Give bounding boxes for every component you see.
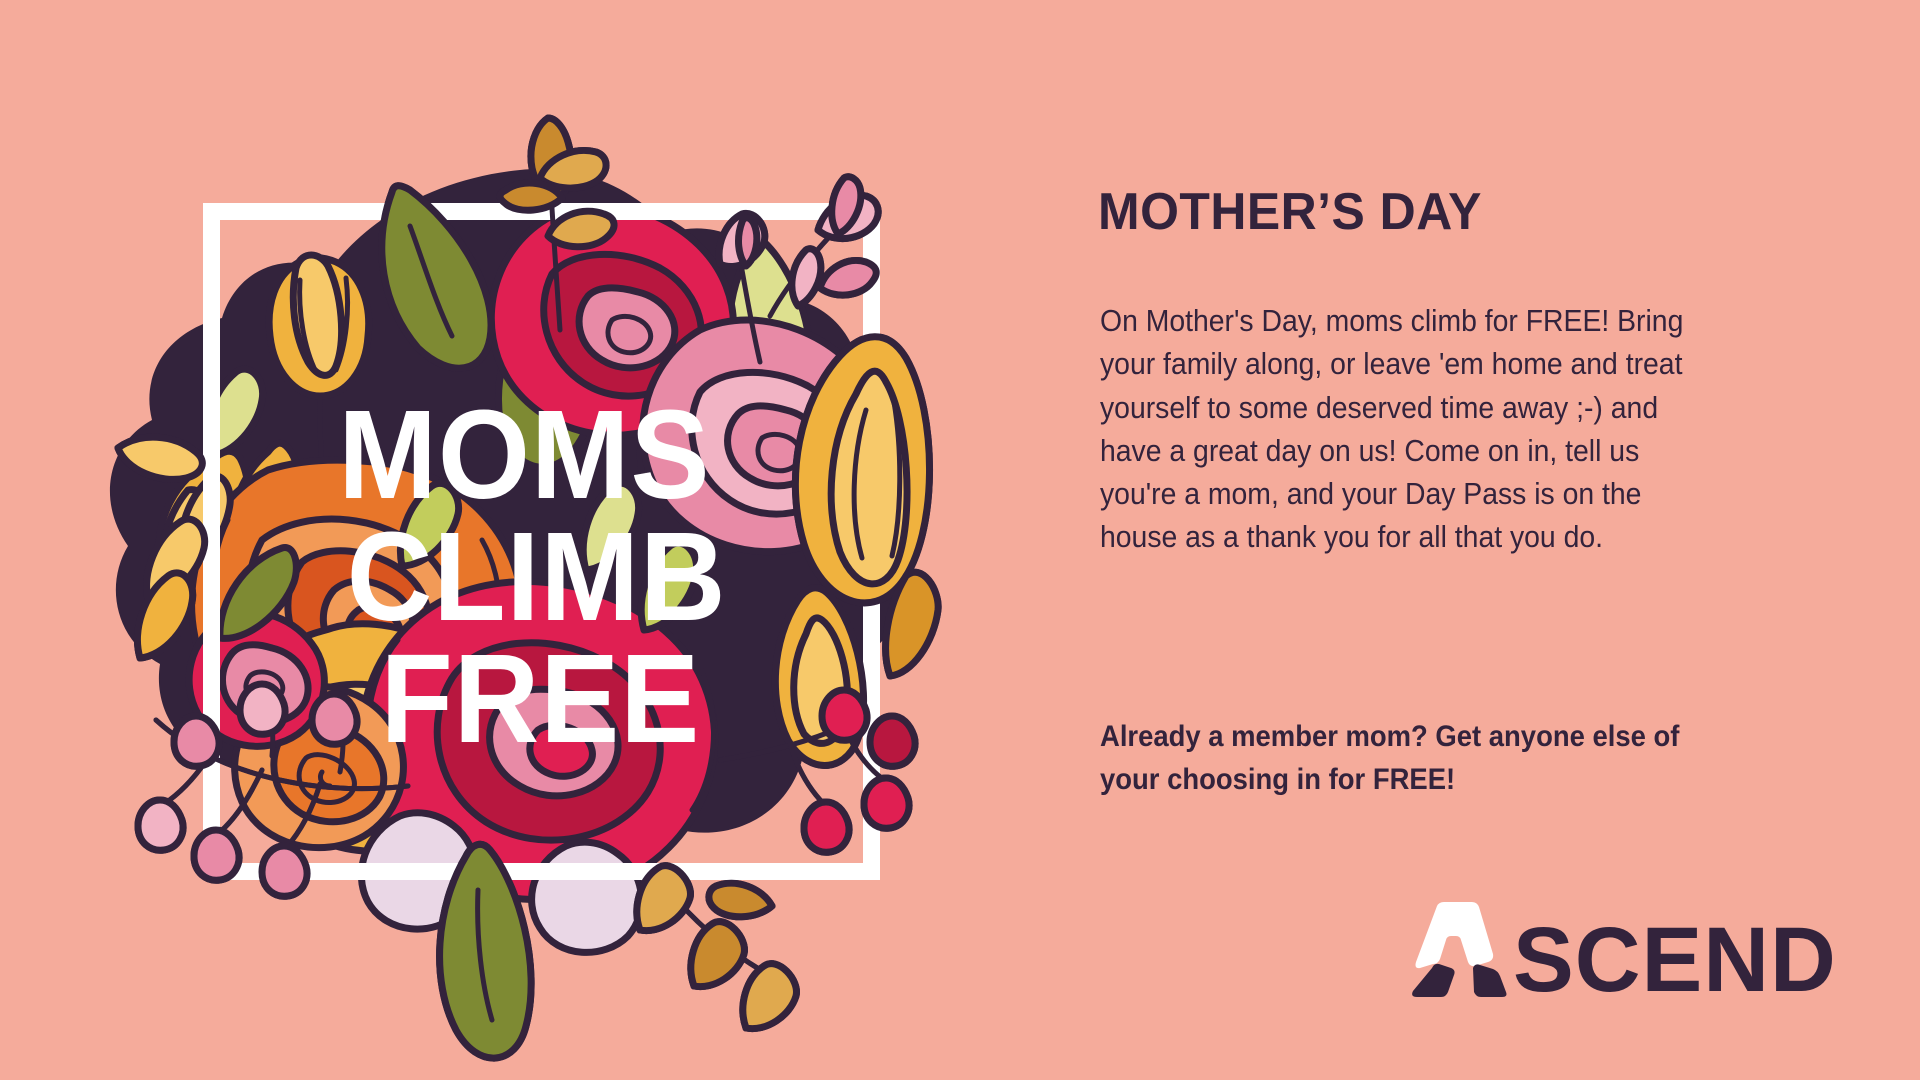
ascend-a-mark (1401, 902, 1511, 998)
artwork-frame-top (203, 203, 880, 220)
artwork-frame-bottom (203, 863, 880, 880)
floral-bouquet-illustration: .ol { stroke:#33233c; stroke-width:7; st… (0, 0, 1060, 1080)
floral-artwork-panel: .ol { stroke:#33233c; stroke-width:7; st… (0, 0, 1060, 1080)
artwork-frame-left (203, 203, 220, 880)
ascend-logo: SCEND (1401, 902, 1840, 998)
promo-body-text: On Mother's Day, moms climb for FREE! Br… (1100, 300, 1695, 560)
ascend-wordmark: SCEND (1513, 923, 1837, 998)
promo-kicker-text: Already a member mom? Get anyone else of… (1100, 716, 1695, 802)
page-title: MOTHER’S DAY (1098, 186, 1482, 238)
promo-banner: .ol { stroke:#33233c; stroke-width:7; st… (0, 0, 1920, 1080)
artwork-frame-right (863, 203, 880, 880)
